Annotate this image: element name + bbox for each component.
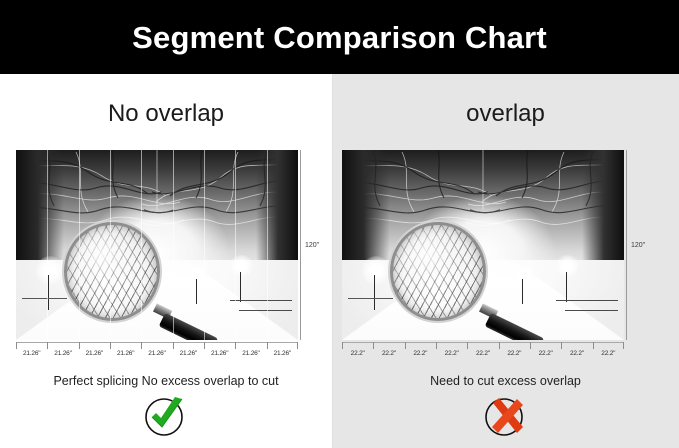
measure-cell: 21.26"	[79, 342, 110, 364]
measure-cell: 22.2"	[342, 342, 373, 364]
fence-railing	[348, 298, 393, 299]
segment-width-label: 22.2"	[382, 350, 396, 357]
measure-cell: 21.26"	[173, 342, 204, 364]
measure-strip-no-overlap: 21.26" 21.26" 21.26" 21.26" 21.26" 21.26…	[16, 342, 298, 364]
panel-heading-overlap: overlap	[332, 100, 679, 128]
measure-cell: 22.2"	[436, 342, 467, 364]
segment-width-label: 22.2"	[476, 350, 490, 357]
segment-width-label: 21.26"	[180, 350, 197, 357]
comparison-panels: No overlap	[0, 74, 679, 448]
measure-cell: 21.26"	[204, 342, 235, 364]
tick-mark	[235, 342, 236, 349]
tick-mark	[499, 342, 500, 349]
panel-divider	[332, 74, 333, 448]
winter-park-scene	[16, 150, 298, 340]
segment-width-label: 21.26"	[54, 350, 71, 357]
tick-mark	[110, 342, 111, 349]
height-label: 120"	[631, 242, 645, 249]
magnifier-lens	[390, 222, 486, 321]
park-bench	[556, 300, 618, 301]
measure-cell: 22.2"	[467, 342, 498, 364]
height-label: 120"	[305, 242, 319, 249]
tick-mark	[267, 342, 268, 349]
measure-cell: 21.26"	[267, 342, 298, 364]
segment-width-label: 22.2"	[413, 350, 427, 357]
street-lamp-post	[522, 279, 523, 304]
tick-mark	[204, 342, 205, 349]
tick-mark	[436, 342, 437, 349]
street-lamp-post	[374, 275, 375, 309]
winter-park-scene	[342, 150, 624, 340]
magnifier-lens	[64, 222, 160, 321]
tick-mark	[373, 342, 374, 349]
street-lamp-glow	[556, 255, 579, 278]
height-dimension-no-overlap: 120"	[300, 150, 319, 340]
segment-width-label: 22.2"	[601, 350, 615, 357]
measure-cell: 21.26"	[47, 342, 78, 364]
tick-mark	[141, 342, 142, 349]
street-lamp-glow	[230, 255, 253, 278]
street-lamp-glow	[514, 264, 534, 285]
header-banner: Segment Comparison Chart	[0, 0, 679, 74]
photo-overlap	[342, 150, 624, 340]
tick-mark	[530, 342, 531, 349]
dimension-line	[626, 150, 627, 340]
photo-frame	[16, 150, 298, 340]
park-bench	[230, 300, 292, 301]
park-bench	[565, 310, 619, 311]
tick-mark	[342, 342, 343, 349]
segment-width-label: 21.26"	[242, 350, 259, 357]
tick-mark	[593, 342, 594, 349]
segment-width-label: 22.2"	[351, 350, 365, 357]
segment-width-label: 22.2"	[539, 350, 553, 357]
verdict-overlap	[332, 396, 679, 438]
cross-mark-icon	[483, 396, 529, 438]
fence-railing	[22, 298, 67, 299]
segment-width-label: 22.2"	[570, 350, 584, 357]
segment-width-label: 21.26"	[148, 350, 165, 357]
tick-mark	[16, 342, 17, 349]
street-lamp-post	[566, 272, 567, 302]
segment-width-label: 21.26"	[86, 350, 103, 357]
tick-mark	[79, 342, 80, 349]
panel-caption-overlap: Need to cut excess overlap	[332, 374, 679, 388]
park-bench	[239, 310, 293, 311]
segment-width-label: 22.2"	[445, 350, 459, 357]
measure-cell: 22.2"	[373, 342, 404, 364]
page-title: Segment Comparison Chart	[132, 22, 547, 53]
dimension-line	[300, 150, 301, 340]
height-dimension-overlap: 120"	[626, 150, 645, 340]
panel-no-overlap: No overlap	[0, 74, 332, 448]
measure-cell: 22.2"	[405, 342, 436, 364]
measure-cell: 22.2"	[530, 342, 561, 364]
panel-heading-no-overlap: No overlap	[0, 100, 332, 128]
tick-mark	[467, 342, 468, 349]
measure-cell: 22.2"	[593, 342, 624, 364]
check-mark-icon	[144, 396, 188, 438]
segment-width-label: 21.26"	[23, 350, 40, 357]
street-lamp-post	[48, 275, 49, 309]
street-lamp-glow	[362, 256, 390, 285]
verdict-no-overlap	[0, 396, 332, 438]
magnifier-icon	[64, 222, 160, 321]
measure-cell: 22.2"	[499, 342, 530, 364]
tick-mark	[297, 342, 298, 349]
segment-width-label: 21.26"	[117, 350, 134, 357]
tick-mark	[561, 342, 562, 349]
segment-width-label: 21.26"	[211, 350, 228, 357]
street-lamp-post	[240, 272, 241, 302]
photo-no-overlap	[16, 150, 298, 340]
tick-mark	[47, 342, 48, 349]
tick-mark	[405, 342, 406, 349]
street-lamp-glow	[188, 264, 208, 285]
photo-frame	[342, 150, 624, 340]
measure-cell: 21.26"	[141, 342, 172, 364]
segment-width-label: 21.26"	[274, 350, 291, 357]
segment-width-label: 22.2"	[507, 350, 521, 357]
measure-cell: 21.26"	[235, 342, 266, 364]
tick-mark	[623, 342, 624, 349]
panel-overlap: overlap	[332, 74, 679, 448]
street-lamp-post	[196, 279, 197, 304]
magnifier-icon	[390, 222, 486, 321]
measure-cell: 21.26"	[110, 342, 141, 364]
measure-cell: 22.2"	[561, 342, 592, 364]
measure-strip-overlap: 22.2" 22.2" 22.2" 22.2" 22.2" 22.2" 22.2…	[342, 342, 624, 364]
measure-cell: 21.26"	[16, 342, 47, 364]
panel-caption-no-overlap: Perfect splicing No excess overlap to cu…	[0, 374, 332, 388]
street-lamp-glow	[36, 256, 64, 285]
tick-mark	[173, 342, 174, 349]
